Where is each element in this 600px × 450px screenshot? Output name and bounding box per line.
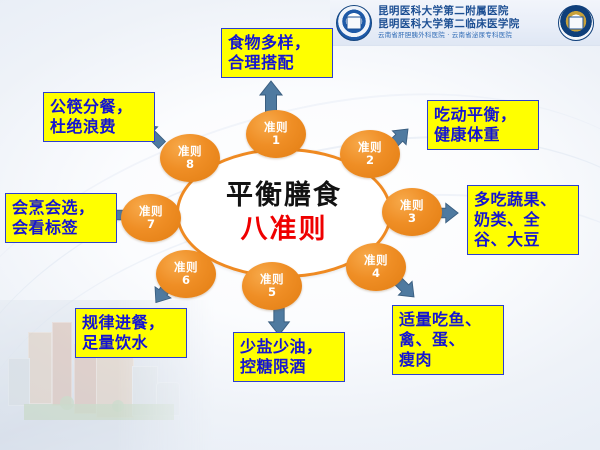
header-line-1: 昆明医科大学第二附属医院 (378, 5, 552, 17)
bubble-number-6: 6 (182, 274, 190, 287)
guideline-box-4-line-2: 禽、蛋、 (399, 330, 465, 350)
bubble-number-8: 8 (186, 158, 194, 171)
guideline-box-3-line-2: 奶类、全 (474, 210, 540, 230)
guideline-box-5-line-2: 控糖限酒 (240, 357, 306, 377)
guideline-box-6[interactable]: 规律进餐， 足量饮水 (75, 308, 187, 358)
guideline-bubble-4[interactable]: 准则 4 (346, 243, 406, 291)
bubble-number-1: 1 (272, 134, 280, 147)
guideline-box-7-line-2: 会看标签 (12, 218, 78, 238)
guideline-bubble-5[interactable]: 准则 5 (242, 262, 302, 310)
header-line-2: 昆明医科大学第二临床医学院 (378, 18, 552, 30)
guideline-bubble-2[interactable]: 准则 2 (340, 130, 400, 178)
guideline-box-1[interactable]: 食物多样， 合理搭配 (221, 28, 333, 78)
guideline-box-5-line-1: 少盐少油， (240, 337, 323, 357)
guideline-box-7[interactable]: 会烹会选， 会看标签 (5, 193, 117, 243)
guideline-box-1-line-1: 食物多样， (228, 33, 311, 53)
guideline-box-8[interactable]: 公筷分餐， 杜绝浪费 (43, 92, 155, 142)
guideline-box-4-line-3: 瘦肉 (399, 350, 432, 370)
bubble-number-2: 2 (366, 154, 374, 167)
guideline-box-4-line-1: 适量吃鱼、 (399, 310, 482, 330)
center-title-line-1: 平衡膳食 (226, 180, 342, 212)
guideline-box-1-line-2: 合理搭配 (228, 53, 294, 73)
guideline-box-8-line-2: 杜绝浪费 (50, 117, 116, 137)
header-text-block: 昆明医科大学第二附属医院 昆明医科大学第二临床医学院 云南省肝胆胰外科医院 · … (378, 5, 552, 40)
guideline-box-6-line-1: 规律进餐， (82, 313, 165, 333)
guideline-box-3[interactable]: 多吃蔬果、 奶类、全 谷、大豆 (467, 185, 579, 255)
guideline-box-2-line-1: 吃动平衡， (434, 105, 517, 125)
guideline-box-8-line-1: 公筷分餐， (50, 97, 133, 117)
guideline-box-7-line-1: 会烹会选， (12, 198, 95, 218)
bubble-number-7: 7 (147, 218, 155, 231)
slide-canvas: 昆明医科大学第二附属医院 昆明医科大学第二临床医学院 云南省肝胆胰外科医院 · … (0, 0, 600, 450)
guideline-box-3-line-1: 多吃蔬果、 (474, 190, 557, 210)
bubble-number-3: 3 (408, 212, 416, 225)
guideline-box-3-line-3: 谷、大豆 (474, 230, 540, 250)
guideline-box-6-line-2: 足量饮水 (82, 333, 148, 353)
guideline-box-2[interactable]: 吃动平衡， 健康体重 (427, 100, 539, 150)
arrow-up-1 (258, 80, 284, 114)
guideline-bubble-8[interactable]: 准则 8 (160, 134, 220, 182)
guideline-bubble-3[interactable]: 准则 3 (382, 188, 442, 236)
header-line-3: 云南省肝胆胰外科医院 · 云南省泌尿专科医院 (378, 31, 552, 40)
hospital-header-banner: 昆明医科大学第二附属医院 昆明医科大学第二临床医学院 云南省肝胆胰外科医院 · … (330, 0, 600, 46)
guideline-box-5[interactable]: 少盐少油， 控糖限酒 (233, 332, 345, 382)
guideline-box-2-line-2: 健康体重 (434, 125, 500, 145)
university-crest-icon (336, 5, 372, 41)
guideline-bubble-6[interactable]: 准则 6 (156, 250, 216, 298)
center-title-line-2: 八准则 (241, 214, 328, 246)
bubble-number-4: 4 (372, 267, 380, 280)
bubble-number-5: 5 (268, 286, 276, 299)
hospital-crest-icon (558, 5, 594, 41)
guideline-bubble-1[interactable]: 准则 1 (246, 110, 306, 158)
guideline-bubble-7[interactable]: 准则 7 (121, 194, 181, 242)
guideline-box-4[interactable]: 适量吃鱼、 禽、蛋、 瘦肉 (392, 305, 504, 375)
